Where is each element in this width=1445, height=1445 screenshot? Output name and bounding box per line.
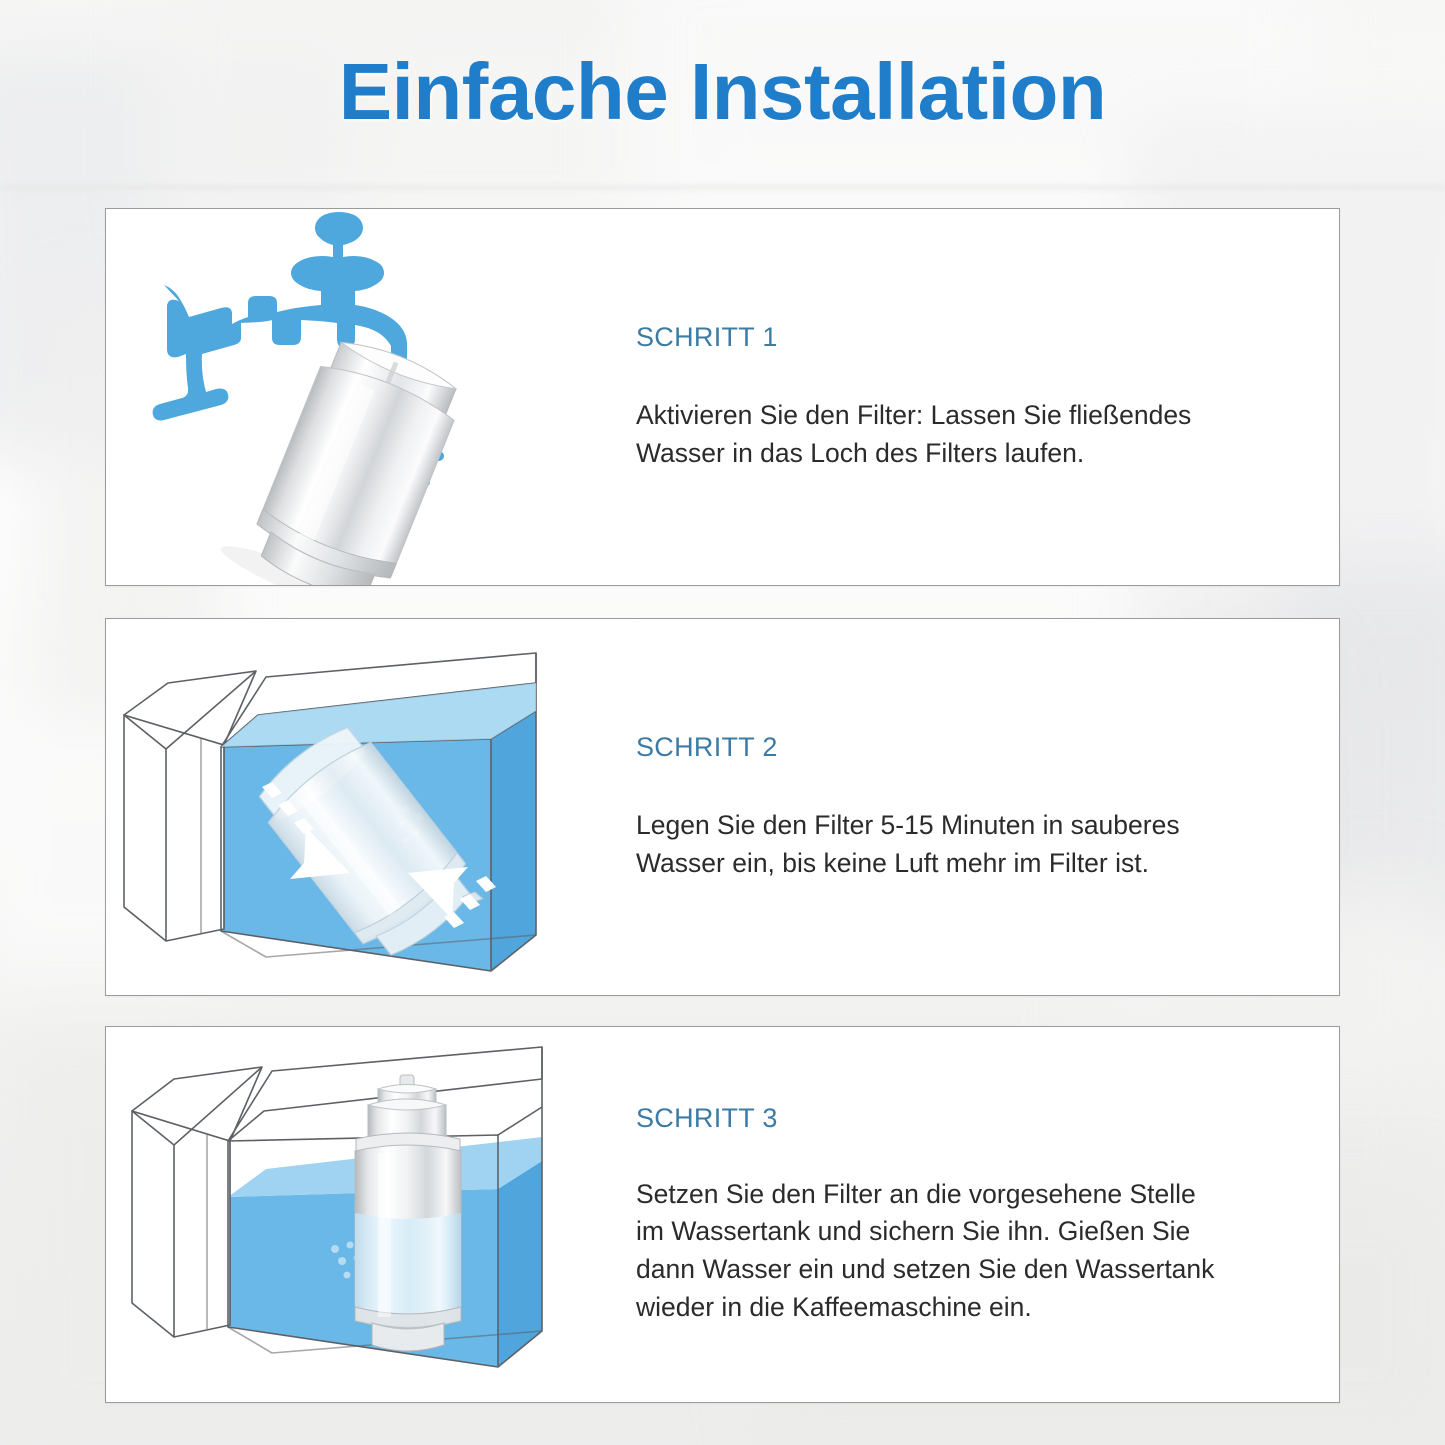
- step-card-2: SCHRITT 2 Legen Sie den Filter 5-15 Minu…: [105, 618, 1340, 996]
- step-2-copy: SCHRITT 2 Legen Sie den Filter 5-15 Minu…: [626, 732, 1339, 882]
- step-1-label: SCHRITT 1: [636, 322, 1279, 353]
- step-3-text: Setzen Sie den Filter an die vorgesehene…: [636, 1176, 1216, 1327]
- page-title: Einfache Installation: [0, 46, 1445, 138]
- step-1-illustration: [106, 209, 626, 585]
- step-2-label: SCHRITT 2: [636, 732, 1279, 763]
- tank-handle: [132, 1111, 230, 1337]
- step-3-illustration: [106, 1027, 626, 1402]
- step-3-copy: SCHRITT 3 Setzen Sie den Filter an die v…: [626, 1103, 1339, 1327]
- step-card-3: SCHRITT 3 Setzen Sie den Filter an die v…: [105, 1026, 1340, 1403]
- step-card-1: SCHRITT 1 Aktivieren Sie den Filter: Las…: [105, 208, 1340, 586]
- step-2-text: Legen Sie den Filter 5-15 Minuten in sau…: [636, 807, 1216, 882]
- filter-cartridge-icon: [216, 321, 491, 585]
- tank-with-submerged-filter-illustration: [106, 619, 626, 995]
- installation-guide-page: Einfache Installation: [0, 0, 1445, 1445]
- tank-handle: [124, 715, 224, 941]
- water-surface: [221, 683, 536, 747]
- step-2-illustration: [106, 619, 626, 995]
- step-1-copy: SCHRITT 1 Aktivieren Sie den Filter: Las…: [626, 322, 1339, 472]
- step-3-label: SCHRITT 3: [636, 1103, 1279, 1134]
- water-tank-outline: [132, 1047, 542, 1367]
- tank-with-installed-filter-illustration: [106, 1027, 626, 1403]
- water-side-face: [491, 711, 536, 971]
- filter-cartridge-icon: [355, 1075, 461, 1351]
- faucet-and-filter-illustration: [106, 209, 626, 585]
- step-1-text: Aktivieren Sie den Filter: Lassen Sie fl…: [636, 397, 1216, 472]
